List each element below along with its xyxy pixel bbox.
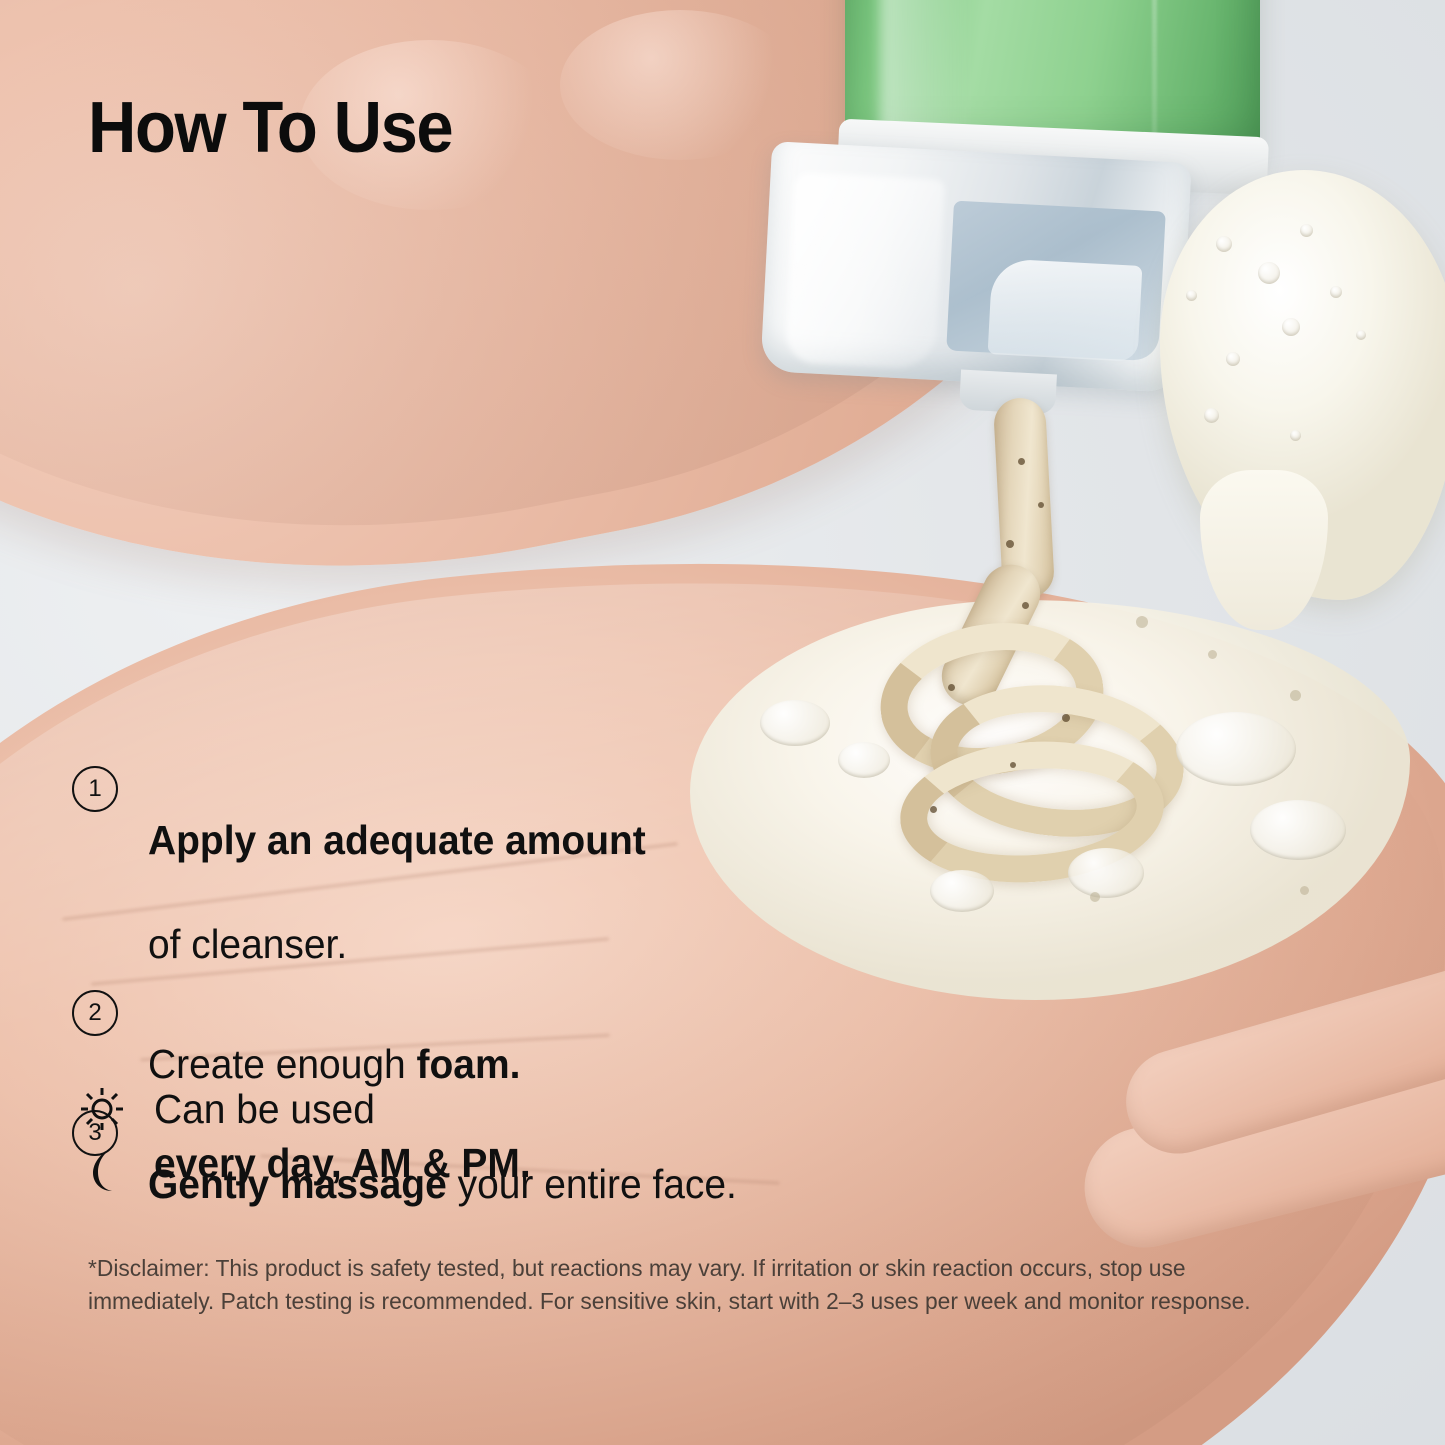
disclaimer-text: *Disclaimer: This product is safety test… — [88, 1252, 1262, 1318]
sun-icon — [79, 1086, 125, 1132]
step-text: Apply an adequate amount of cleanser. — [148, 762, 646, 970]
schedule-line-2: every day, AM & PM. — [154, 1140, 531, 1186]
text-overlay: How To Use 1 Apply an adequate amount of… — [0, 0, 1445, 1445]
circled-number-1-icon: 1 — [72, 766, 118, 812]
moon-icon — [79, 1144, 125, 1194]
usage-schedule: Can be used every day, AM & PM. — [72, 1082, 550, 1194]
how-to-use-infographic: How To Use 1 Apply an adequate amount of… — [0, 0, 1445, 1445]
step-regular-text: of cleanser. — [148, 921, 347, 967]
step-regular-text: Create enough — [148, 1041, 417, 1087]
step-bold-text: foam. — [417, 1041, 521, 1087]
schedule-text: Can be used every day, AM & PM. — [154, 1082, 531, 1190]
schedule-line-1: Can be used — [154, 1086, 375, 1132]
circled-number-2-icon: 2 — [72, 990, 118, 1036]
page-title: How To Use — [88, 92, 452, 164]
schedule-icons — [72, 1082, 132, 1194]
step-bold-text: Apply an adequate amount — [148, 817, 646, 863]
step-text: Create enough foam. — [148, 986, 520, 1090]
step-item: 1 Apply an adequate amount of cleanser. — [72, 762, 952, 970]
step-item: 2 Create enough foam. — [72, 986, 952, 1090]
